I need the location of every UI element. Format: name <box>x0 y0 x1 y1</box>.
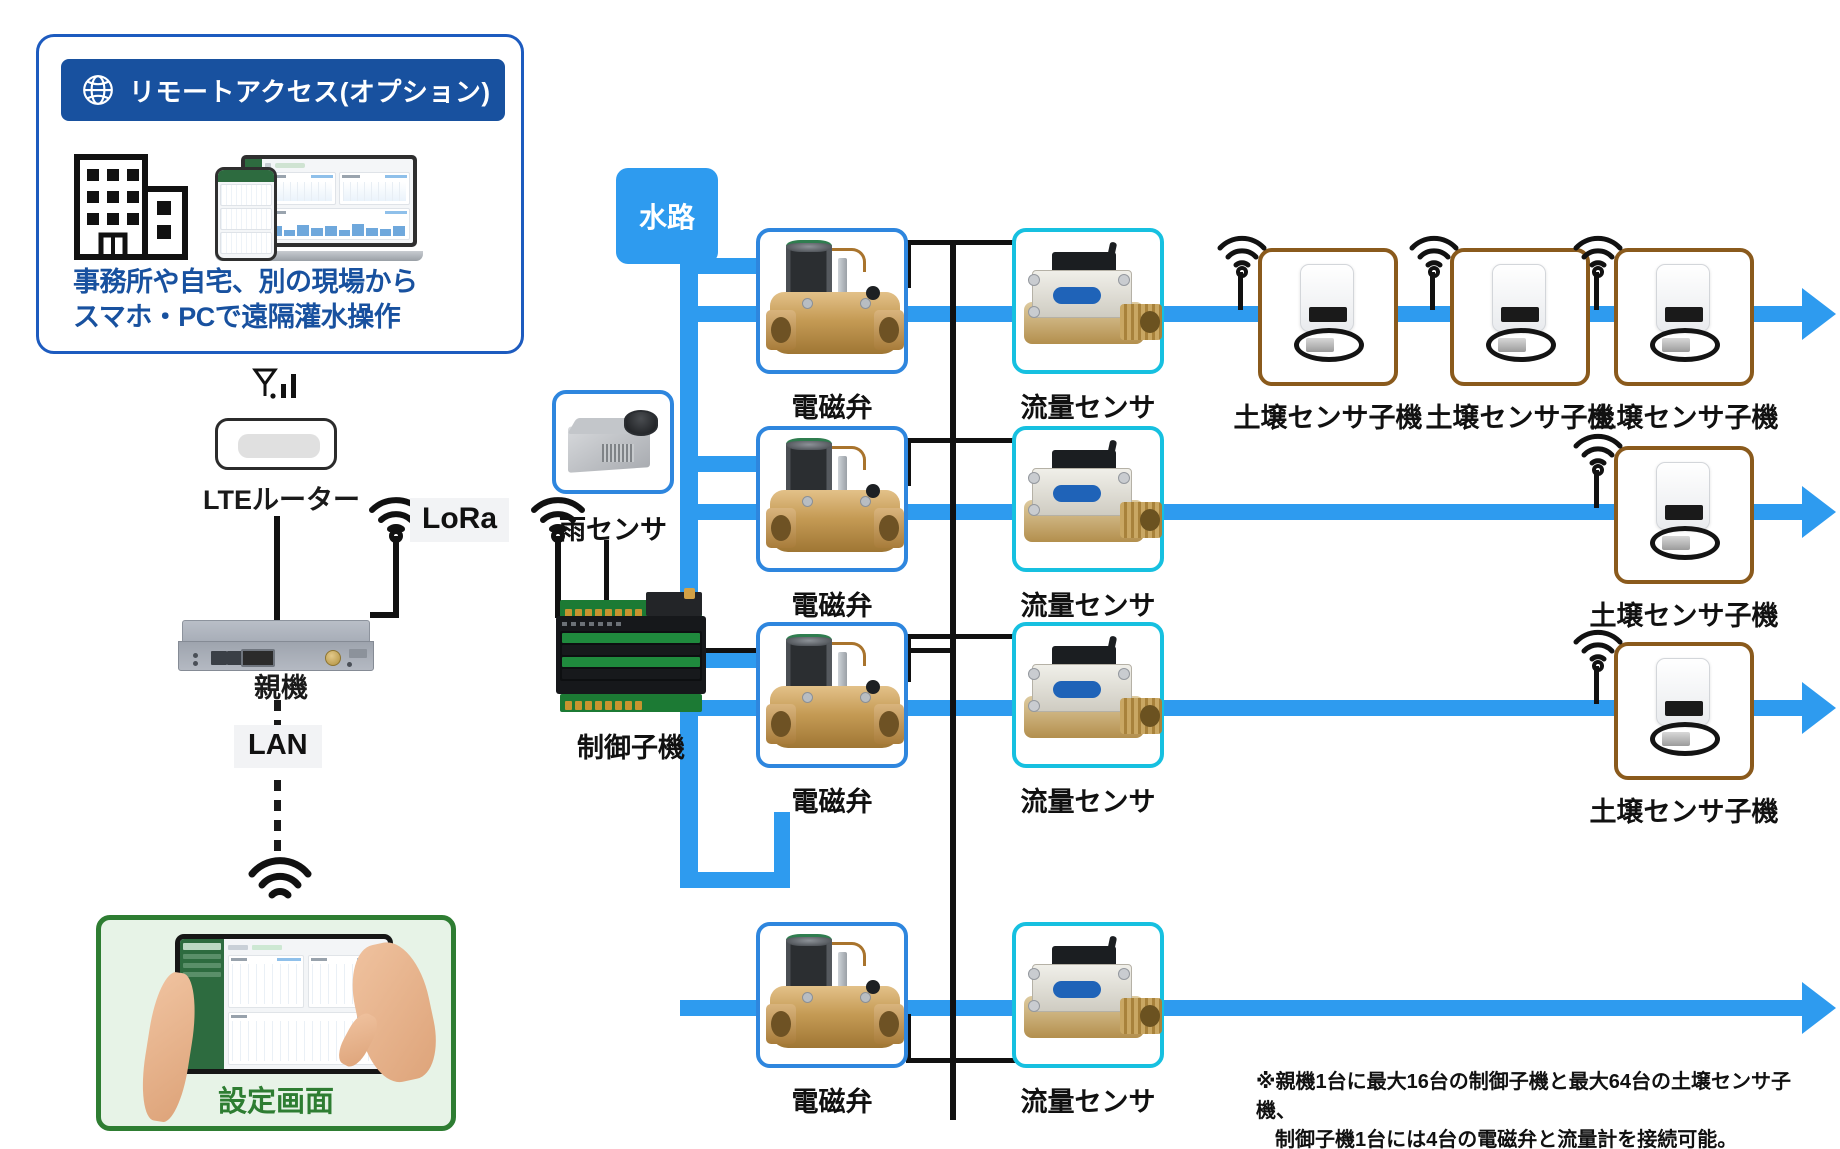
remote-devices-illustration <box>73 141 493 261</box>
remote-caption-line-1: 事務所や自宅、別の現場から <box>73 265 503 300</box>
solenoid-valve-1 <box>756 228 908 374</box>
controller-label: 制御子機 <box>546 726 716 765</box>
solenoid-valve-4 <box>756 922 908 1068</box>
laptop-and-phone-icon <box>215 153 423 261</box>
lora-label: LoRa <box>410 498 509 542</box>
waterway-badge: 水路 <box>616 168 718 264</box>
footnote-line-1: ※親機1台に最大16台の制御子機と最大64台の土壌センサ子機、 <box>1256 1071 1791 1122</box>
solenoid-valve-icon <box>768 440 902 564</box>
soil-sensor-lead-2-1 <box>1594 470 1599 508</box>
soil-sensor-1-3 <box>1614 248 1754 386</box>
flow-sensor-label-3: 流量センサ <box>1000 780 1176 819</box>
rain-sensor-label: 雨センサ <box>552 508 674 547</box>
soil-sensor-icon <box>1630 262 1742 378</box>
soil-sensor-2-1 <box>1614 446 1754 584</box>
antenna-signal-icon <box>252 366 304 410</box>
settings-screen-card: 設定画面 <box>96 915 456 1131</box>
flow-sensor-icon <box>1024 446 1160 558</box>
soil-sensor-lead-3-1 <box>1594 666 1599 704</box>
solenoid-valve-icon <box>768 636 902 760</box>
flow-arrow-row-4 <box>1802 982 1836 1034</box>
main-trunk-pipe <box>680 258 698 888</box>
rain-sensor-box <box>552 390 674 494</box>
flow-sensor-3 <box>1012 622 1164 768</box>
flow-arrow-row-3 <box>1802 682 1836 734</box>
footnote: ※親機1台に最大16台の制御子機と最大64台の土壌センサ子機、 制御子機1台には… <box>1256 1068 1816 1149</box>
flow-sensor-label-1: 流量センサ <box>1000 386 1176 425</box>
lan-label: LAN <box>234 725 322 768</box>
parent-unit-device <box>178 620 374 672</box>
rain-sensor-icon <box>568 410 666 480</box>
lte-to-parent-link <box>274 516 280 620</box>
solenoid-valve-icon <box>768 242 902 366</box>
settings-screen-label: 設定画面 <box>101 1078 451 1120</box>
flow-sensor-2 <box>1012 426 1164 572</box>
solenoid-valve-label-2: 電磁弁 <box>756 584 908 623</box>
flow-sensor-4 <box>1012 922 1164 1068</box>
soil-sensor-1-2 <box>1450 248 1590 386</box>
soil-sensor-label-1-1: 土壌センサ子機 <box>1216 396 1440 435</box>
smartphone-mockup <box>215 167 277 261</box>
remote-access-title: リモートアクセス(オプション) <box>129 72 491 109</box>
flow-sensor-icon <box>1024 248 1160 360</box>
soil-sensor-lead-1-1 <box>1238 272 1243 310</box>
lan-dotted-upper <box>274 700 281 728</box>
flow-sensor-icon <box>1024 642 1160 754</box>
soil-sensor-icon <box>1630 656 1742 772</box>
lte-router-label: LTEルーター <box>203 478 360 517</box>
office-building-icon <box>73 153 189 261</box>
soil-sensor-icon <box>1630 460 1742 576</box>
solenoid-valve-label-1: 電磁弁 <box>756 386 908 425</box>
remote-caption-line-2: スマホ・PCで遠隔灌水操作 <box>73 300 503 335</box>
waterway-label: 水路 <box>639 196 695 236</box>
flow-arrow-row-2 <box>1802 486 1836 538</box>
remote-access-header: リモートアクセス(オプション) <box>61 59 505 121</box>
flow-sensor-label-4: 流量センサ <box>1000 1080 1176 1119</box>
controller-device <box>556 600 706 712</box>
parent-unit-label: 親機 <box>254 666 308 705</box>
branch-pipe-4-top <box>680 872 790 888</box>
flow-arrow-row-1 <box>1802 288 1836 340</box>
rain-sensor-cable <box>604 540 609 602</box>
soil-sensor-icon <box>1466 262 1578 378</box>
lora-antenna-lead-h <box>370 612 398 618</box>
footnote-line-2: 制御子機1台には4台の電磁弁と流量計を接続可能。 <box>1256 1126 1816 1149</box>
flow-sensor-1 <box>1012 228 1164 374</box>
remote-access-caption: 事務所や自宅、別の現場から スマホ・PCで遠隔灌水操作 <box>73 265 503 334</box>
solenoid-valve-label-4: 電磁弁 <box>756 1080 908 1119</box>
diagram-canvas: リモートアクセス(オプション) <box>0 0 1840 1149</box>
soil-sensor-label-3-1: 土壌センサ子機 <box>1572 790 1796 829</box>
soil-sensor-lead-1-2 <box>1430 272 1435 310</box>
lte-router-indicator <box>238 434 320 458</box>
solenoid-valve-icon <box>768 936 902 1060</box>
flow-sensor-label-2: 流量センサ <box>1000 584 1176 623</box>
solenoid-valve-label-3: 電磁弁 <box>756 780 908 819</box>
soil-sensor-icon <box>1274 262 1386 378</box>
wifi-icon <box>248 856 312 904</box>
lte-router-device <box>215 418 337 470</box>
lora-antenna-lead <box>393 536 399 618</box>
control-bus-vertical <box>950 240 956 1120</box>
remote-access-card: リモートアクセス(オプション) <box>36 34 524 354</box>
soil-sensor-3-1 <box>1614 642 1754 780</box>
soil-sensor-1-1 <box>1258 248 1398 386</box>
lan-dotted-lower <box>274 780 281 858</box>
soil-sensor-lead-1-3 <box>1594 272 1599 310</box>
solenoid-valve-3 <box>756 622 908 768</box>
globe-icon <box>81 73 115 107</box>
solenoid-valve-2 <box>756 426 908 572</box>
branch-drop-4 <box>774 812 790 872</box>
flow-sensor-icon <box>1024 942 1160 1054</box>
